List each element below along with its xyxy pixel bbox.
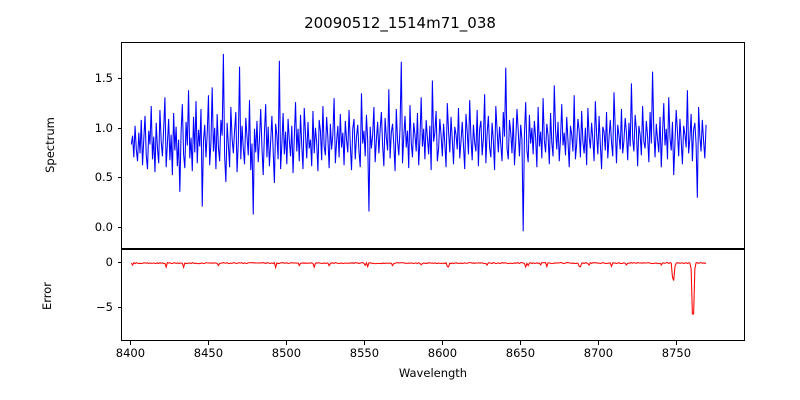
- spectrum-data-line: [122, 43, 744, 248]
- wavelength-tick-label: 8500: [256, 346, 316, 360]
- wavelength-tick-label: 8550: [334, 346, 394, 360]
- wavelength-tick-mark: [598, 341, 599, 345]
- wavelength-tick-label: 8400: [100, 346, 160, 360]
- wavelength-axis-label: Wavelength: [121, 366, 745, 380]
- spectrum-ytick-mark: [118, 227, 122, 228]
- wavelength-tick-mark: [364, 341, 365, 345]
- error-ytick-label: −5: [73, 300, 113, 314]
- wavelength-tick-label: 8650: [490, 346, 550, 360]
- error-axis-label: Error: [40, 246, 54, 346]
- wavelength-tick-mark: [442, 341, 443, 345]
- spectrum-ytick-label: 0.0: [73, 220, 113, 234]
- wavelength-tick-mark: [286, 341, 287, 345]
- error-axes: [121, 249, 745, 341]
- wavelength-tick-mark: [676, 341, 677, 345]
- wavelength-tick-label: 8450: [178, 346, 238, 360]
- spectrum-ytick-label: 0.5: [73, 170, 113, 184]
- error-ytick-mark: [118, 307, 122, 308]
- figure-title: 20090512_1514m71_038: [0, 14, 800, 32]
- spectrum-ytick-mark: [118, 177, 122, 178]
- wavelength-tick-label: 8700: [568, 346, 628, 360]
- error-data-line: [122, 250, 744, 340]
- wavelength-tick-label: 8750: [646, 346, 706, 360]
- spectrum-axis-label: Spectrum: [43, 90, 57, 200]
- spectrum-figure: 20090512_1514m71_038 0.00.51.01.50−58400…: [0, 0, 800, 400]
- spectrum-axes: [121, 42, 745, 249]
- error-ytick-label: 0: [73, 255, 113, 269]
- spectrum-ytick-label: 1.0: [73, 121, 113, 135]
- spectrum-ytick-mark: [118, 78, 122, 79]
- wavelength-tick-mark: [130, 341, 131, 345]
- wavelength-tick-mark: [208, 341, 209, 345]
- spectrum-ytick-mark: [118, 128, 122, 129]
- wavelength-tick-mark: [520, 341, 521, 345]
- spectrum-ytick-label: 1.5: [73, 71, 113, 85]
- wavelength-tick-label: 8600: [412, 346, 472, 360]
- error-ytick-mark: [118, 262, 122, 263]
